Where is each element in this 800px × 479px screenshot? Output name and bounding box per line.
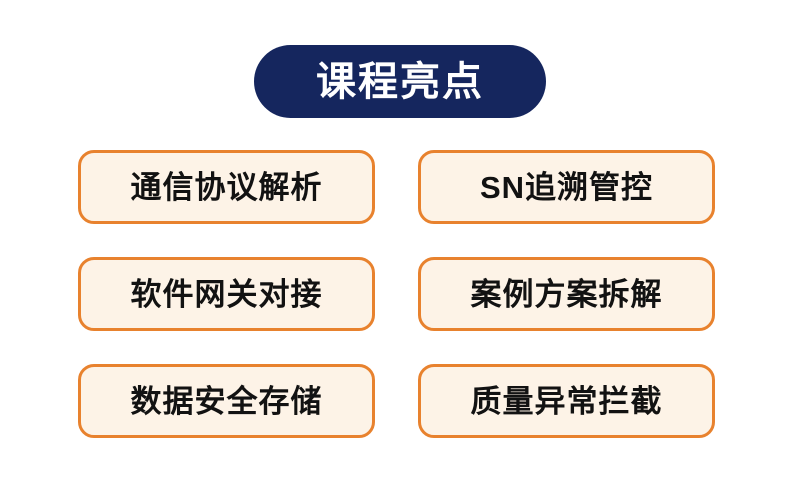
highlight-card-label: 案例方案拆解: [471, 279, 663, 310]
page-title: 课程亮点: [316, 62, 484, 102]
highlight-card-label: 数据安全存储: [131, 386, 323, 417]
highlight-card-label: 通信协议解析: [131, 172, 323, 203]
page-title-pill: 课程亮点: [254, 45, 546, 118]
highlight-card-label: SN追溯管控: [480, 172, 653, 203]
highlight-card-label: 软件网关对接: [131, 279, 323, 310]
highlight-card-data-security-storage[interactable]: 数据安全存储: [78, 364, 375, 438]
course-highlights-poster: 课程亮点 通信协议解析 SN追溯管控 软件网关对接 案例方案拆解 数据安全存储 …: [0, 0, 800, 479]
highlight-card-label: 质量异常拦截: [471, 386, 663, 417]
highlights-grid: 通信协议解析 SN追溯管控 软件网关对接 案例方案拆解 数据安全存储 质量异常拦…: [78, 150, 715, 438]
highlight-card-quality-exception-interception[interactable]: 质量异常拦截: [418, 364, 715, 438]
highlight-card-sn-traceability[interactable]: SN追溯管控: [418, 150, 715, 224]
highlight-card-software-gateway[interactable]: 软件网关对接: [78, 257, 375, 331]
highlight-card-communication-protocol[interactable]: 通信协议解析: [78, 150, 375, 224]
highlight-card-case-solution[interactable]: 案例方案拆解: [418, 257, 715, 331]
